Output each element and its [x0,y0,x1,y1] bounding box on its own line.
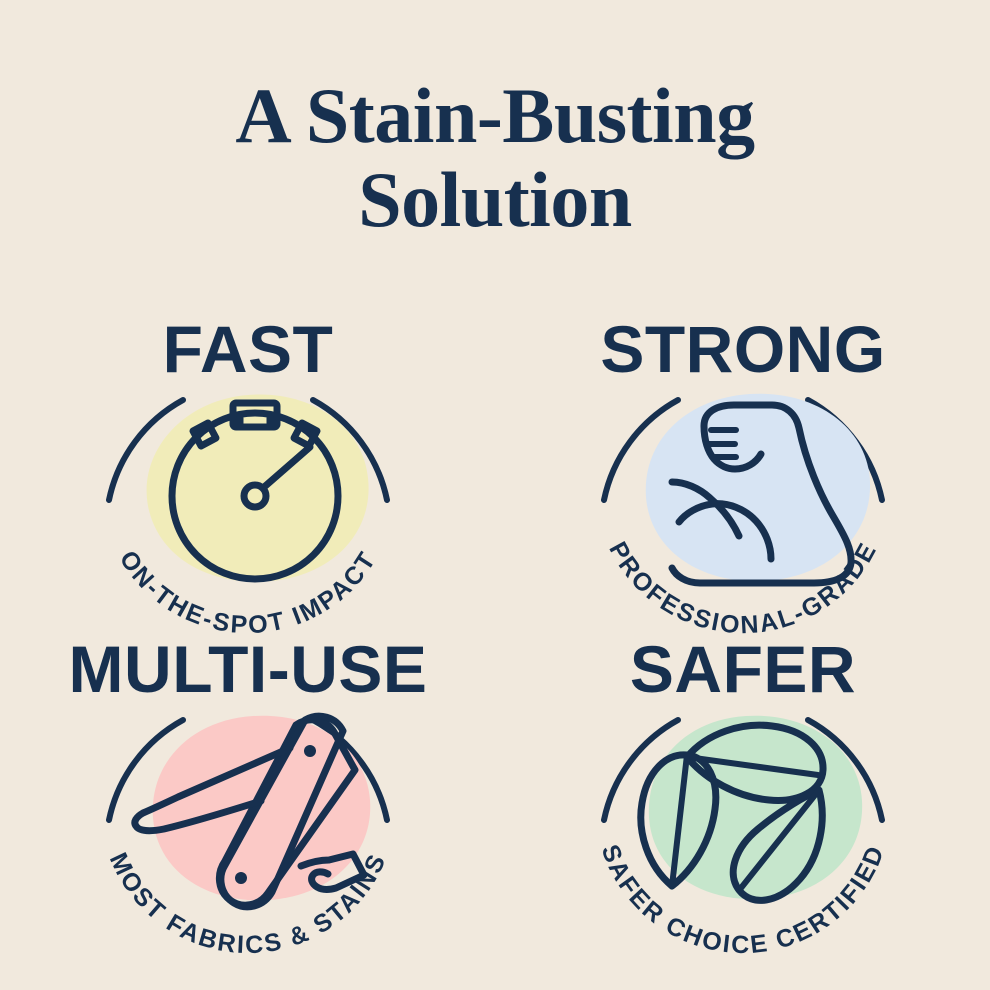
page-title-line-1: A Stain-Busting [0,74,990,158]
badge-fast: FAST ON-THE-SPOT IM [0,310,495,630]
badge-strong-heading: STRONG [600,312,885,386]
badge-safer: SAFER SAFER CHOICE CERTI [495,630,990,950]
badge-strong: STRONG PROFESSIONAL-GRADE [495,310,990,630]
feature-badge-grid: FAST ON-THE-SPOT IM [0,310,990,950]
page-title-line-2: Solution [0,158,990,242]
badge-safer-heading: SAFER [629,632,855,706]
badge-multi-use: MULTI-USE MOS [0,630,495,950]
badge-strong-blob [645,394,869,581]
infographic-page: A Stain-Busting Solution FAST [0,0,990,990]
badge-multi-use-heading: MULTI-USE [68,632,427,706]
page-title: A Stain-Busting Solution [0,74,990,242]
badge-fast-heading: FAST [162,312,333,386]
